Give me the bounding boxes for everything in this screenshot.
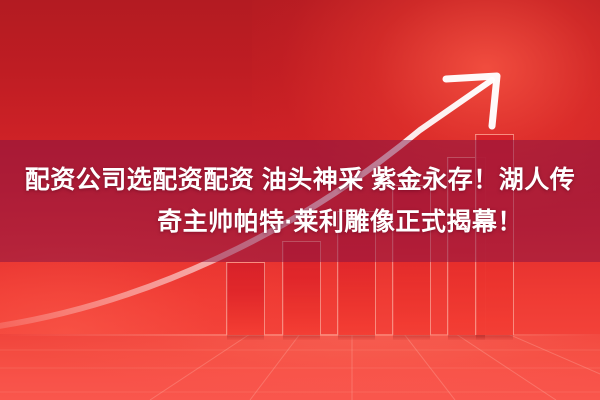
floor-grid [0, 334, 600, 400]
perspective-floor [0, 334, 600, 400]
promo-banner: 配资公司选配资配资 油头神采 紫金永存！湖人传 奇主帅帕特·莱利雕像正式揭幕！ [0, 0, 600, 400]
headline-line-2: 奇主帅帕特·莱利雕像正式揭幕！ [77, 202, 523, 242]
headline: 配资公司选配资配资 油头神采 紫金永存！湖人传 奇主帅帕特·莱利雕像正式揭幕！ [0, 140, 600, 262]
headline-line-1: 配资公司选配资配资 油头神采 紫金永存！湖人传 [25, 160, 575, 200]
